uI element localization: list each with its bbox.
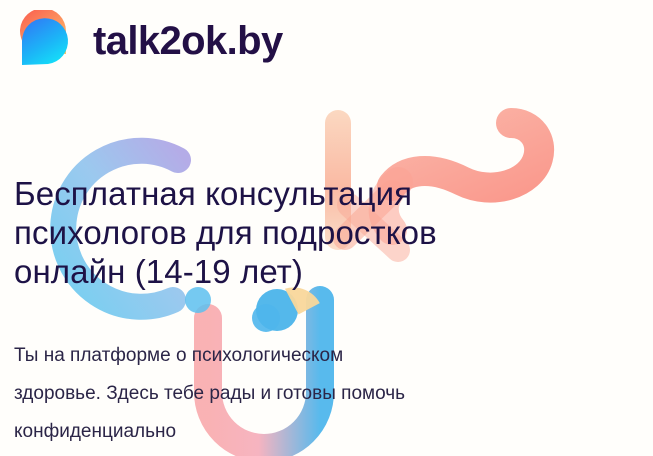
landing-page-root: talk2ok.by Бесплатная консультация психо…	[0, 0, 653, 456]
blue-dot-large	[256, 289, 298, 331]
talk2ok-logo-mark[interactable]	[14, 10, 76, 72]
headline-line-2: психологов для подростков	[14, 213, 614, 252]
headline-line-3: онлайн (14-19 лет)	[14, 252, 614, 291]
brand-wordmark[interactable]: talk2ok.by	[93, 21, 283, 61]
logo-front-shape	[22, 18, 68, 65]
hero-description: Ты на платформе о психологическом здоров…	[14, 337, 624, 451]
page-title: Бесплатная консультация психологов для п…	[14, 174, 614, 291]
blue-dot-small	[252, 304, 280, 332]
paragraph-line-3: конфиденциально	[14, 413, 624, 451]
headline-line-1: Бесплатная консультация	[14, 174, 614, 213]
paragraph-line-1: Ты на платформе о психологическом	[14, 337, 624, 375]
paragraph-line-2: здоровье. Здесь тебе рады и готовы помоч…	[14, 375, 624, 413]
site-header: talk2ok.by	[14, 10, 283, 72]
